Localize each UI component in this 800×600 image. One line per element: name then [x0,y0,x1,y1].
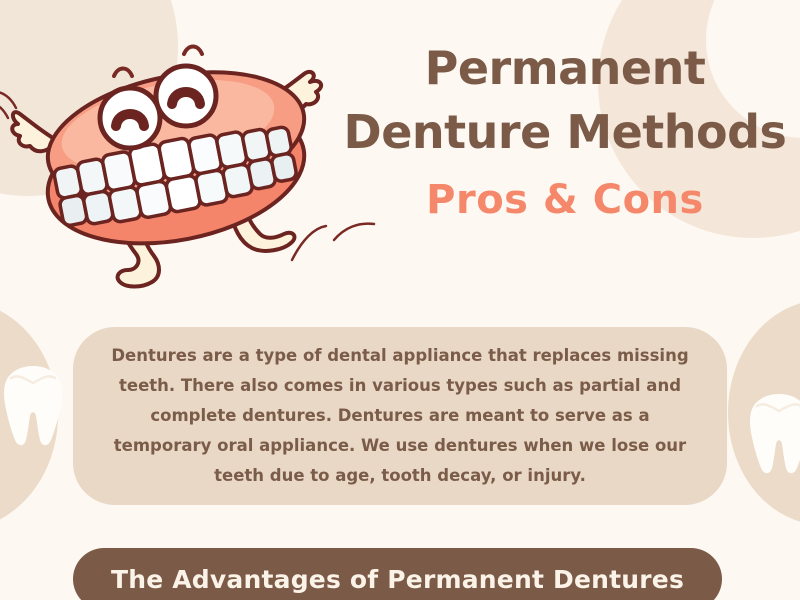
denture-mascot-illustration [0,14,376,294]
decorative-blob-right-edge [728,300,800,525]
advantages-banner: The Advantages of Permanent Dentures [73,548,722,600]
motion-lines-right [292,224,374,260]
tooth-silhouette-right-icon [748,390,800,476]
title-line-1: Permanent [340,36,790,100]
description-card: Dentures are a type of dental appliance … [73,327,727,505]
title-line-2: Denture Methods [340,100,790,164]
decorative-blob-left-edge [0,300,58,530]
page-title: Permanent Denture Methods Pros & Cons [340,36,790,222]
mascot-right-eye [156,66,216,126]
advantages-banner-label: The Advantages of Permanent Dentures [111,565,684,594]
description-text: Dentures are a type of dental appliance … [107,341,693,491]
poster-canvas: Permanent Denture Methods Pros & Cons De… [0,0,800,600]
page-subtitle: Pros & Cons [340,178,790,222]
mascot-left-eye [100,88,160,148]
tooth-silhouette-left-icon [2,362,64,448]
